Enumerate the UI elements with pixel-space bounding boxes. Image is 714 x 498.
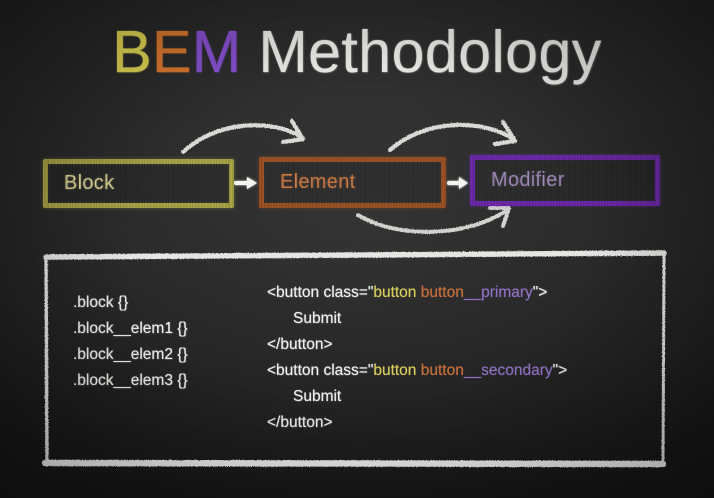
css-code-column: .block {} .block__elem1 {} .block__elem2…: [73, 290, 188, 394]
title-letter-b: B: [112, 19, 152, 85]
html-open-suffix: ">: [553, 362, 568, 379]
css-line: .block__elem1 {}: [73, 316, 188, 342]
html-open-prefix: <button class=": [267, 362, 373, 379]
html-class-modifier: __secondary: [464, 362, 553, 379]
html-content-primary: Submit: [267, 306, 567, 332]
flow-box-modifier-label: Modifier: [475, 169, 565, 192]
html-class-block: button: [421, 362, 464, 379]
page-title: BEM Methodology: [0, 22, 714, 84]
flow-box-element-label: Element: [264, 171, 355, 194]
html-class-base: button: [373, 362, 416, 379]
css-line: .block__elem2 {}: [73, 342, 188, 368]
arrow-block-element: [236, 177, 257, 189]
html-class-base: button: [373, 284, 416, 301]
title-letter-e: E: [152, 19, 192, 85]
code-panel: .block {} .block__elem1 {} .block__elem2…: [45, 252, 665, 464]
html-class-modifier: __primary: [464, 284, 533, 301]
html-open-tag-primary: <button class="button button__primary">: [267, 280, 567, 306]
css-line: .block {}: [73, 290, 188, 316]
html-open-prefix: <button class=": [267, 284, 373, 301]
arrow-element-modifier: [449, 177, 468, 189]
curve-element-modifier-top: [390, 122, 515, 150]
html-content-secondary: Submit: [267, 384, 567, 410]
title-rest: Methodology: [242, 19, 602, 85]
html-open-suffix: ">: [533, 284, 548, 301]
flow-box-modifier[interactable]: Modifier: [470, 155, 660, 206]
chalkboard: BEM Methodology: [0, 0, 714, 498]
html-code-column: <button class="button button__primary"> …: [267, 280, 567, 436]
flow-box-element[interactable]: Element: [259, 157, 446, 208]
curve-block-element-top: [183, 121, 303, 152]
html-class-block: button: [421, 284, 464, 301]
html-close-tag-secondary: </button>: [267, 410, 567, 436]
title-letter-m: M: [192, 19, 242, 85]
flow-box-block[interactable]: Block: [43, 159, 234, 208]
css-line: .block__elem3 {}: [73, 368, 188, 394]
flow-box-block-label: Block: [48, 172, 114, 195]
html-open-tag-secondary: <button class="button button__secondary"…: [267, 358, 567, 384]
curve-element-modifier-bottom: [358, 208, 509, 232]
html-close-tag-primary: </button>: [267, 332, 567, 358]
